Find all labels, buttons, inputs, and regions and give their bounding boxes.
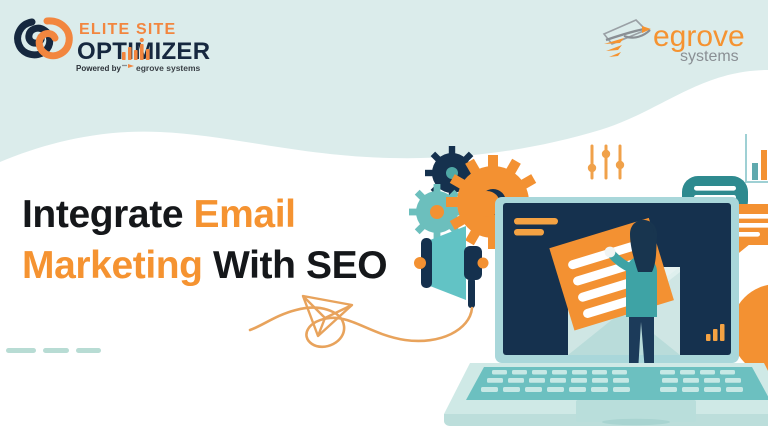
logo-line2: OPTIMIZER — [77, 38, 210, 65]
egrove-word-secondary: systems — [680, 48, 739, 65]
headline-line1-plain: Integrate — [22, 193, 194, 236]
egrove-systems-logo[interactable]: egrove systems — [596, 10, 756, 70]
dash-1 — [6, 348, 36, 353]
egrove-arrow-icon — [604, 20, 651, 57]
logo-line1: ELITE SITE — [79, 21, 176, 38]
decorative-dashes — [6, 348, 101, 353]
headline-line-1: Integrate Email — [22, 190, 442, 241]
logo-powered-brand: egrove systems — [136, 63, 201, 73]
banner-root: ELITE SITE OPTIMIZER Powered by egrove s… — [0, 0, 768, 447]
headline-line-2: Marketing With SEO — [22, 241, 442, 292]
headline-line2-accent: Marketing — [22, 244, 203, 287]
dash-3 — [76, 348, 101, 353]
logo-powered-by: Powered by — [76, 64, 121, 73]
dash-2 — [43, 348, 69, 353]
elite-site-optimizer-logo[interactable]: ELITE SITE OPTIMIZER Powered by egrove s… — [14, 12, 214, 74]
headline-line1-accent: Email — [194, 193, 296, 236]
headline-line2-plain: With SEO — [203, 244, 388, 287]
eso-mark-icon — [18, 21, 70, 56]
headline: Integrate Email Marketing With SEO — [22, 190, 442, 291]
